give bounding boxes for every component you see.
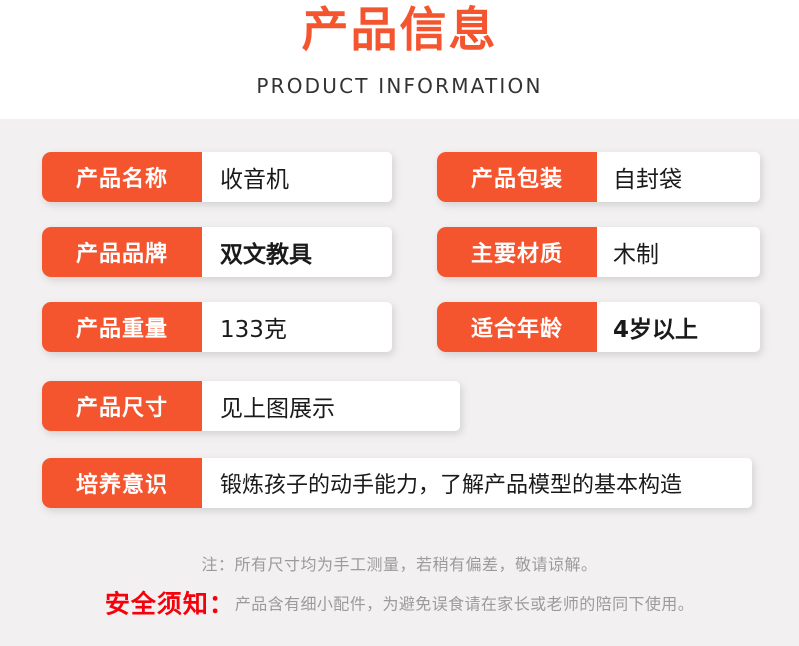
spec-label-main-material: 主要材质 xyxy=(437,227,597,277)
page-title-cn: 产品信息 xyxy=(0,3,799,59)
safety-notice-title: 安全须知： xyxy=(105,590,235,619)
spec-row-suitable-age: 适合年龄 4岁以上 xyxy=(437,302,760,352)
spec-row-main-material: 主要材质 木制 xyxy=(437,227,760,277)
spec-row-product-size: 产品尺寸 见上图展示 xyxy=(42,381,460,431)
spec-row-product-brand: 产品品牌 双文教具 xyxy=(42,227,392,277)
measurement-note: 注：所有尺寸均为手工测量，若稍有偏差，敬请谅解。 xyxy=(0,554,799,576)
spec-value-learning-purpose: 锻炼孩子的动手能力，了解产品模型的基本构造 xyxy=(202,458,752,508)
spec-value-product-size: 见上图展示 xyxy=(202,381,460,431)
spec-value-product-brand: 双文教具 xyxy=(202,227,392,277)
spec-label-product-name: 产品名称 xyxy=(42,152,202,202)
header-band: 产品信息 PRODUCT INFORMATION xyxy=(0,0,799,119)
spec-row-learning-purpose: 培养意识 锻炼孩子的动手能力，了解产品模型的基本构造 xyxy=(42,458,752,508)
spec-row-product-packaging: 产品包装 自封袋 xyxy=(437,152,760,202)
product-information-page: 产品信息 PRODUCT INFORMATION 产品名称 收音机 产品品牌 双… xyxy=(0,0,799,646)
spec-label-product-weight: 产品重量 xyxy=(42,302,202,352)
page-title-en: PRODUCT INFORMATION xyxy=(0,74,799,98)
spec-row-product-weight: 产品重量 133克 xyxy=(42,302,392,352)
safety-notice-text: 产品含有细小配件，为避免误食请在家长或老师的陪同下使用。 xyxy=(235,595,694,614)
safety-notice: 安全须知：产品含有细小配件，为避免误食请在家长或老师的陪同下使用。 xyxy=(0,588,799,621)
spec-label-product-packaging: 产品包装 xyxy=(437,152,597,202)
spec-label-product-brand: 产品品牌 xyxy=(42,227,202,277)
spec-label-suitable-age: 适合年龄 xyxy=(437,302,597,352)
spec-value-product-weight: 133克 xyxy=(202,302,392,352)
spec-row-product-name: 产品名称 收音机 xyxy=(42,152,392,202)
spec-label-learning-purpose: 培养意识 xyxy=(42,458,202,508)
spec-value-product-packaging: 自封袋 xyxy=(597,152,760,202)
spec-value-product-name: 收音机 xyxy=(202,152,392,202)
spec-label-product-size: 产品尺寸 xyxy=(42,381,202,431)
spec-value-suitable-age: 4岁以上 xyxy=(597,302,760,352)
spec-value-main-material: 木制 xyxy=(597,227,760,277)
